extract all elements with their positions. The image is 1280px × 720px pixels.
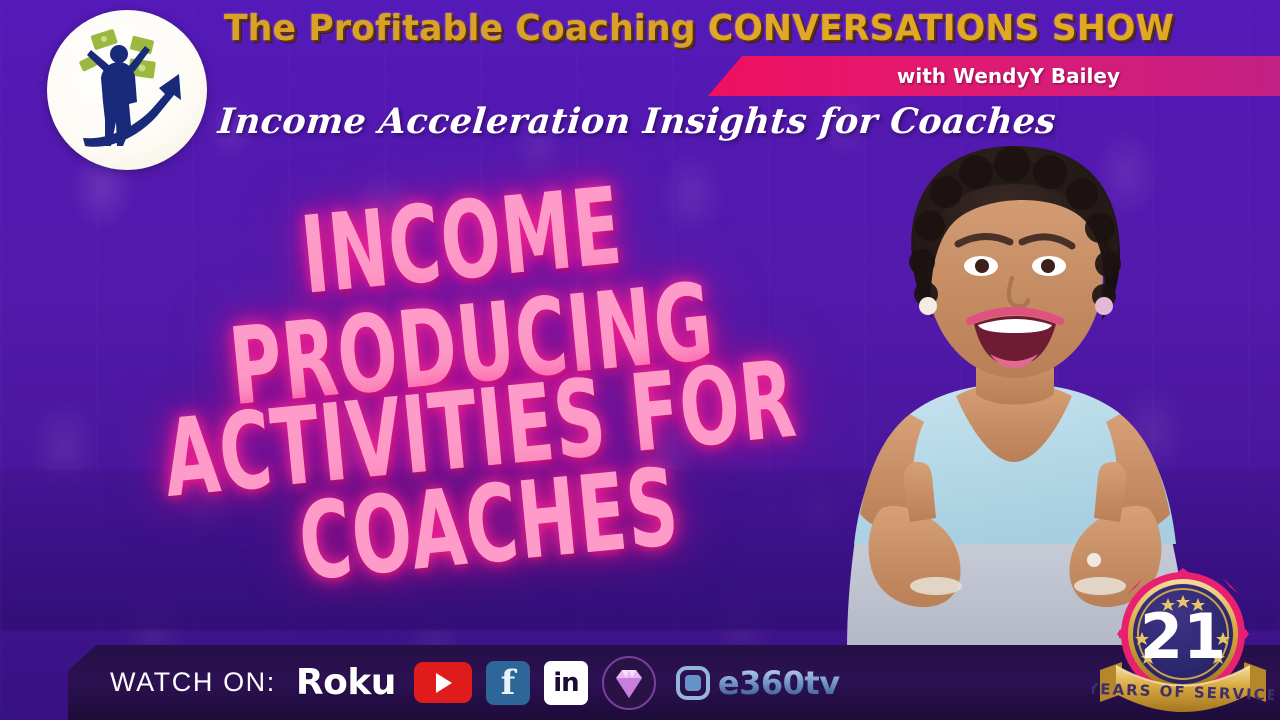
play-triangle-icon — [436, 673, 452, 693]
roku-icon[interactable]: Roku — [296, 662, 396, 703]
watch-on-label: WATCH ON: — [110, 667, 276, 698]
e360tv-mark-icon — [674, 663, 714, 703]
brand-logo — [47, 10, 207, 170]
show-title-plain: The Profitable Coaching — [224, 8, 708, 49]
show-title-strong: CONVERSATIONS SHOW — [708, 8, 1174, 49]
watch-bar-content: WATCH ON: Roku f in e360tv — [110, 645, 840, 720]
e360tv-wordmark: e360tv — [718, 664, 840, 702]
diamond-icon[interactable] — [602, 656, 656, 710]
hero-headline: INCOME PRODUCING ACTIVITIES FOR COACHES — [81, 178, 871, 603]
e360tv-icon[interactable]: e360tv — [674, 663, 840, 703]
years-of-service-badge: 21 YEARS OF SERVICE — [1092, 566, 1274, 720]
show-title: The Profitable Coaching CONVERSATIONS SH… — [224, 6, 1117, 54]
facebook-icon[interactable]: f — [486, 661, 530, 705]
youtube-icon[interactable] — [414, 662, 472, 703]
badge-number: 21 — [1140, 600, 1226, 673]
video-thumbnail: The Profitable Coaching CONVERSATIONS SH… — [0, 0, 1280, 720]
linkedin-icon[interactable]: in — [544, 661, 588, 705]
woman-money-arrow-logo — [47, 10, 207, 170]
